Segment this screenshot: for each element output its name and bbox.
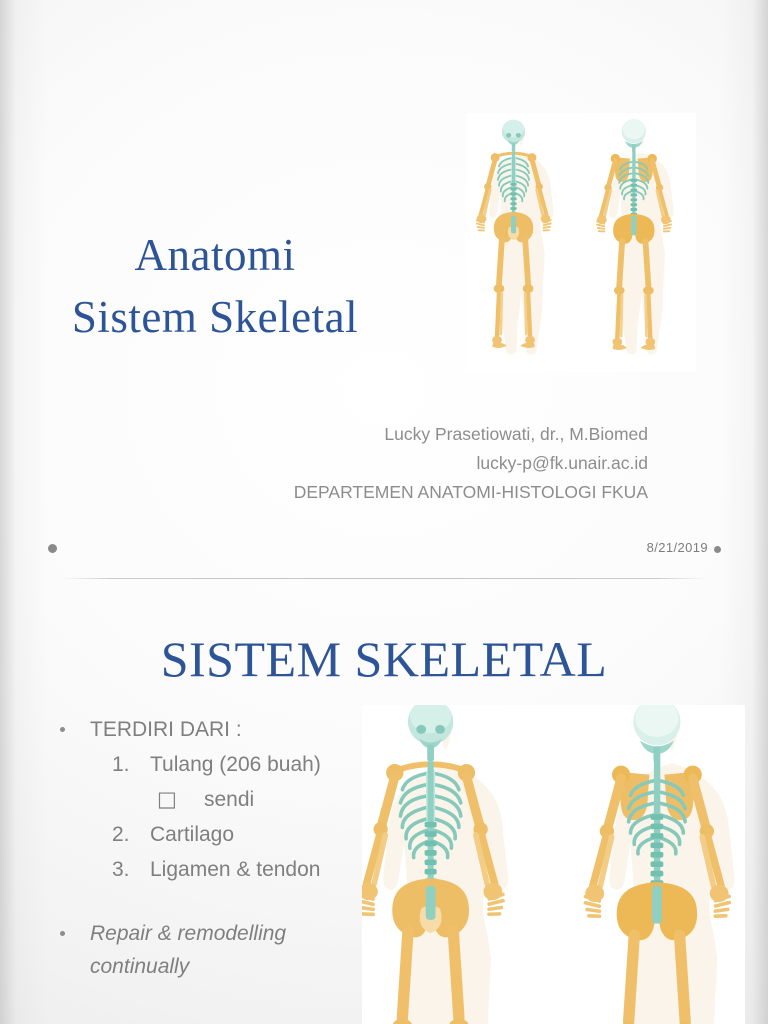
footer-date: 8/21/2019 [647, 540, 708, 555]
list-item-cartilago: 2. Cartilago [52, 817, 432, 852]
slide-divider [62, 578, 706, 579]
human-skeleton-illustration [466, 113, 696, 372]
slide-1-title-line-2: Sistem Skeletal [0, 286, 430, 348]
slide-1-title-line-1: Anatomi [135, 230, 296, 280]
footer-bullet-dot-icon [48, 544, 57, 553]
list-item-repair-remodelling: Repair & remodelling continually [52, 917, 390, 983]
list-item-label: Repair & remodelling continually [90, 922, 286, 978]
list-item-sendi: □ sendi [52, 782, 432, 817]
slide-2-title: SISTEM SKELETAL [0, 630, 768, 688]
list-item-number: 1. [112, 747, 130, 782]
list-item-terdiri-dari: TERDIRI DARI : [52, 712, 432, 747]
missing-glyph-box-icon: □ [157, 782, 177, 817]
list-item-label: Cartilago [150, 823, 234, 846]
list-item-tulang: 1. Tulang (206 buah) [52, 747, 432, 782]
list-item-label: Tulang (206 buah) [150, 753, 321, 776]
list-item-number: 3. [112, 852, 130, 887]
list-item-number: 2. [112, 817, 130, 852]
skeleton-image-slide-1 [466, 113, 696, 372]
bullet-dot-icon [60, 931, 65, 936]
list-item-label: Ligamen & tendon [150, 858, 320, 881]
list-item-label: sendi [204, 788, 254, 811]
bullet-dot-icon [60, 727, 65, 732]
author-name: Lucky Prasetiowati, dr., M.Biomed [108, 420, 648, 449]
list-item-ligamen-tendon: 3. Ligamen & tendon [52, 852, 432, 887]
slide-2: SISTEM SKELETAL TERDIRI DARI : 1. Tulang… [0, 580, 768, 1024]
slide-1-title: Anatomi Sistem Skeletal [0, 162, 430, 410]
list-spacer [52, 887, 432, 917]
slide-1: Anatomi Sistem Skeletal [0, 0, 768, 578]
author-block: Lucky Prasetiowati, dr., M.Biomed lucky-… [108, 420, 648, 507]
author-department: DEPARTEMEN ANATOMI-HISTOLOGI FKUA [108, 478, 648, 507]
list-item-label: TERDIRI DARI : [90, 718, 242, 741]
footer-right-dot-icon [714, 546, 721, 553]
presentation-page: Anatomi Sistem Skeletal [0, 0, 768, 1024]
author-email: lucky-p@fk.unair.ac.id [108, 449, 648, 478]
slide-2-content-list: TERDIRI DARI : 1. Tulang (206 buah) □ se… [52, 712, 432, 983]
